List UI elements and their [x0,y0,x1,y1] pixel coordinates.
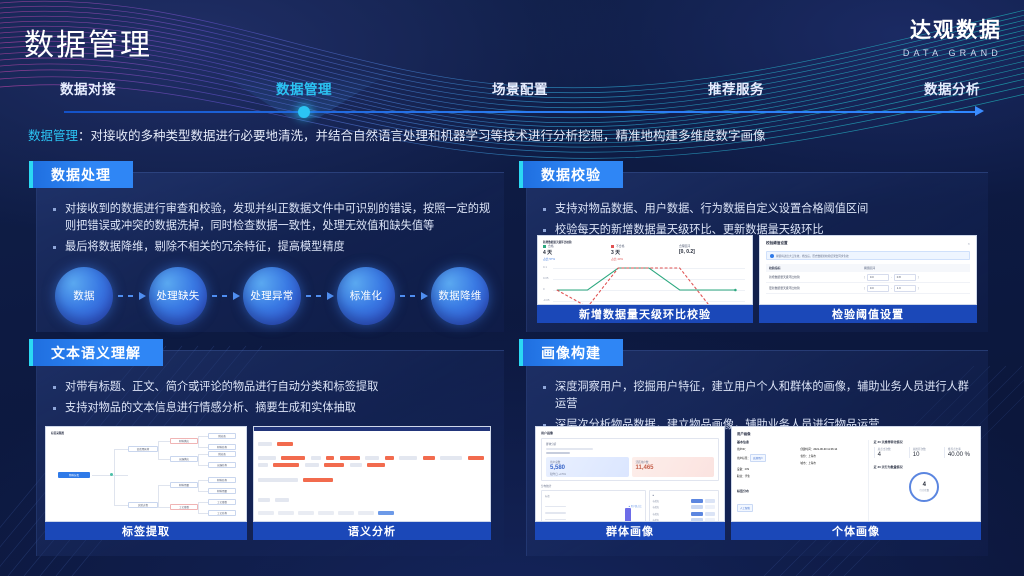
profile-field: 设备：iOS [737,467,800,471]
bullet-list-data-processing: 对接收到的数据进行审查和校验，发现并纠正数据文件中可识别的错误，按照一定的规则把… [51,201,492,260]
flow-node-4: 数据降维 [431,267,489,325]
tab-mini[interactable] [298,511,314,515]
mini-dialog-info-banner: 阈值将达出大口生效，修改后，历史数据的校验结果会同步生效 [766,251,970,260]
profile-field: 用户ID： [737,447,800,451]
section-description-text: ：对接收的多种类型数据进行必要地清洗，并结合自然语言处理和机器学习等技术进行分析… [78,129,766,143]
mini-dash-section-label: 分布统计 [541,484,719,488]
mini-screenshot-dialog: 校验阈值设置 × 阈值将达出大口生效，修改后，历史数据的校验结果会同步生效 校验… [759,235,977,305]
tree-node-l3: 供应商 [208,433,236,439]
flow-arrow-icon [304,291,334,301]
tree-node-l2: 材料供应 [170,438,198,444]
section-description-highlight: 数据管理 [28,129,78,143]
panel-title-portrait-building: 画像构建 [519,339,623,366]
mini-prof-section-behavior: 近 30 天行为数量情况 [874,465,975,469]
threshold-min-input[interactable]: 0.0 [867,285,889,292]
tree-node-l3: 供应商 [208,451,236,457]
nav-item-0[interactable]: 数据对接 [60,78,116,98]
flow-arrow-icon [116,291,146,301]
mini-nlp-body [254,431,490,522]
panel-text-semantics: 文本语义理解 对带有标题、正文、简介或评论的物品进行自动分类和标签提取 支持对物… [36,350,504,556]
info-icon [770,254,774,258]
bullet-list-text-semantics: 对带有标题、正文、简介或评论的物品进行自动分类和标签提取 支持对物品的文本信息进… [51,379,492,421]
profile-tag: 人工智能 [737,504,753,512]
close-icon[interactable]: × [968,241,970,246]
thumbnail-group-portrait[interactable]: 用户画像 群体分析 用户总数 5,580 较昨日 +3.5% 活跃用户数 11,… [535,426,725,540]
thumbnail-caption: 个体画像 [731,522,981,540]
flow-node-3: 标准化 [337,267,395,325]
thumbnail-caption: 标签提取 [45,522,247,540]
bullet-item: 最后将数据降维，剔除不相关的冗余特征，提高模型精度 [51,239,492,256]
thumbnail-tag-extraction[interactable]: 标签采集图 [45,426,247,540]
tab-mini[interactable] [278,511,294,515]
mini-screenshot-profile: 用户画像 基本信息 用户ID： 用户标签：高潜用户 设备：iOS 职业：学生 创… [731,426,981,522]
nav-items: 数据对接 数据管理 场景配置 推荐服务 数据分析 [60,78,980,98]
thumbnail-threshold-settings[interactable]: 校验阈值设置 × 阈值将达出大口生效，修改后，历史数据的校验结果会同步生效 校验… [759,235,977,323]
tree-node-l1: 实验用耗材 [128,446,158,452]
thumbnail-caption: 检验阈值设置 [759,305,977,323]
bullet-item: 对接收到的数据进行审查和校验，发现并纠正数据文件中可识别的错误，按照一定的规则把… [51,201,492,235]
flow-node-2: 处理异常 [243,267,301,325]
mini-dash-title: 用户画像 [541,431,719,435]
mini-dialog-table-header: 校验指标 阈值区间 [766,264,970,272]
thumbnail-individual-portrait[interactable]: 用户画像 基本信息 用户ID： 用户标签：高潜用户 设备：iOS 职业：学生 创… [731,426,981,540]
brand-name-en: DATA GRAND [903,48,1002,58]
profile-field: 创建时间：2021-06-30 11:06:14 [800,447,863,451]
nav-item-2[interactable]: 场景配置 [492,78,548,98]
thumbnail-daily-growth-check[interactable]: 新增数据量天级环比校验 合格 4 天 占比 57% 不合格 3 天 占比 43%… [537,235,753,323]
tab-mini-active[interactable] [378,511,394,515]
flow-arrow-icon [210,291,240,301]
mini-screenshot-nlp [253,426,491,522]
nav-arrow-icon [975,106,984,116]
bullet-item: 支持对物品数据、用户数据、行为数据自定义设置合格阈值区间 [541,201,976,218]
section-description: 数据管理：对接收的多种类型数据进行必要地清洗，并结合自然语言处理和机器学习等技术… [28,128,998,146]
tree-node-l2: 仪器供应 [170,456,198,462]
panel-portrait-building: 画像构建 深度洞察用户，挖掘用户特征，建立用户个人和群体的画像，辅助业务人员进行… [526,350,988,556]
profile-field: 职业：学生 [737,474,800,478]
mini-dash-bar-chart: 标签 ■ 用户数占比 [541,490,646,522]
nav-progress-line [64,111,976,113]
stat-card: 用户总数 5,580 较昨日 +3.5% [546,457,629,477]
legend-entry: 合格 4 天 占比 57% [543,244,611,261]
bullet-item: 对带有标题、正文、简介或评论的物品进行自动分类和标签提取 [51,379,492,396]
mini-chart-plot-area: 0.1 0.05 0 -0.05 [543,264,747,305]
thumbnail-semantic-analysis[interactable]: 语义分析 [253,426,491,540]
mini-screenshot-tree-diagram: 标签采集图 [45,426,247,522]
tree-node-l1: 实验过程 [128,502,158,508]
tree-node-l3: 材料用量 [208,488,236,494]
flow-node-1: 处理缺失 [149,267,207,325]
mini-nlp-tabs [258,511,486,516]
tab-mini[interactable] [358,511,374,515]
mini-dialog-title: 校验阈值设置 [766,241,970,246]
nav-item-4[interactable]: 数据分析 [924,78,980,98]
thumbnail-caption: 语义分析 [253,522,491,540]
nav-item-3[interactable]: 推荐服务 [708,78,764,98]
panel-data-processing: 数据处理 对接收到的数据进行审查和校验，发现并纠正数据文件中可识别的错误，按照一… [36,172,504,332]
stat-card: 活跃用户数 11,465 [632,457,715,477]
flow-arrow-icon [398,291,428,301]
data-processing-flow-diagram: 数据 处理缺失 处理异常 标准化 数据降维 [55,265,489,327]
thumbnail-caption: 新增数据量天级环比校验 [537,305,753,323]
tab-mini[interactable] [338,511,354,515]
tree-node-l3: 工艺名称 [208,510,236,516]
mini-chart-series [553,264,745,305]
nav-active-marker [298,106,310,118]
page-title: 数据管理 [24,20,152,64]
mini-dash-table: ■ 标签名 标签名 标签名 [649,490,719,522]
tab-mini[interactable] [318,511,334,515]
tree-node-l3: 工艺参数 [208,499,236,505]
bullet-item: 支持对物品的文本信息进行情感分析、摘要生成和实体抽取 [51,400,492,417]
panel-title-text-semantics: 文本语义理解 [29,339,163,366]
mini-screenshot-line-chart: 新增数据量天级环比校验 合格 4 天 占比 57% 不合格 3 天 占比 43%… [537,235,753,305]
mini-prof-title: 用户画像 [737,431,975,436]
threshold-max-input[interactable]: 1.0 [894,285,916,292]
brand-logo: 达观数据 DATA GRAND [903,14,1002,58]
legend-entry: 不合格 3 天 占比 43% [611,244,679,261]
step-navigation: 数据对接 数据管理 场景配置 推荐服务 数据分析 [0,78,1024,120]
mini-dialog-table-row: 更新数据量天级环比校验 [ 0.0 - 1.0 ] [766,283,970,294]
nav-item-1[interactable]: 数据管理 [276,78,332,98]
profile-field: 城市：上海市 [800,461,863,465]
tree-node-l3: 材料名称 [208,477,236,483]
mini-screenshot-dashboard: 用户画像 群体分析 用户总数 5,580 较昨日 +3.5% 活跃用户数 11,… [535,426,725,522]
mini-chart-legend: 合格 4 天 占比 57% 不合格 3 天 占比 43% 合理区间 [0, 0.… [543,244,747,261]
legend-entry: 合理区间 [0, 0.2] [679,244,747,261]
tab-mini[interactable] [258,511,274,515]
panel-data-validation: 数据校验 支持对物品数据、用户数据、行为数据自定义设置合格阈值区间 校验每天的新… [526,172,988,332]
flow-node-0: 数据 [55,267,113,325]
mini-dash-filter-card: 群体分析 用户总数 5,580 较昨日 +3.5% 活跃用户数 11,465 [541,438,719,481]
tree-node-l2: 工艺参数 [170,504,198,510]
profile-metric: 总推荐次数 10 [909,447,940,458]
tree-node-l3: 材料名称 [208,444,236,450]
mini-prof-section-basic: 基本信息 [737,440,864,444]
profile-metric: 推荐点击率 40.00 % [944,447,975,458]
panel-title-data-processing: 数据处理 [29,161,133,188]
mini-prof-section-conversion: 近 30 天推荐转化情况 [874,440,975,444]
profile-field: 用户标签：高潜用户 [737,454,800,464]
thumbnail-caption: 群体画像 [535,522,725,540]
mini-prof-section-tags: 标签分布 [737,489,864,493]
tree-node-root: 物料分类 [58,472,90,478]
bullet-item: 深度洞察用户，挖掘用户特征，建立用户个人和群体的画像，辅助业务人员进行人群运营 [541,379,976,413]
threshold-max-input[interactable]: 0.8 [894,274,916,281]
tree-node-l3: 仪器名称 [208,462,236,468]
behavior-gauge: 4 行为次数 [909,472,939,502]
threshold-min-input[interactable]: 0.0 [867,274,889,281]
mini-dialog-table-row: 新增数据量天级环比校验 [ 0.0 - 0.8 ] [766,272,970,283]
profile-metric: 总点击次数 4 [874,447,905,458]
tree-node-l2: 材料用量 [170,482,198,488]
brand-name-cn: 达观数据 [903,14,1002,44]
panel-title-data-validation: 数据校验 [519,161,623,188]
profile-field: 省份：上海市 [800,454,863,458]
